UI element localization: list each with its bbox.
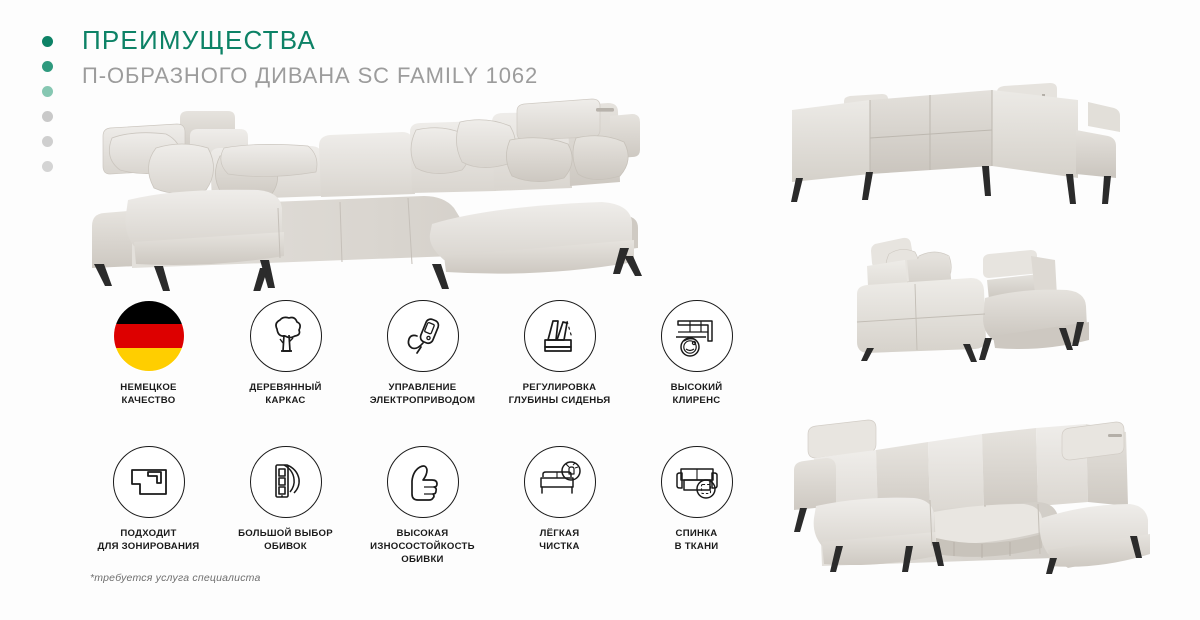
- german-flag-icon: [113, 300, 185, 372]
- features-grid: НЕМЕЦКОЕ КАЧЕСТВО ДЕРЕВЯННЫЙ КАРКАС: [80, 300, 770, 566]
- slide-root: ПРЕИМУЩЕСТВА П-ОБРАЗНОГО ДИВАНА SC FAMIL…: [0, 0, 1200, 620]
- remote-control-icon: [387, 300, 459, 372]
- feature-label: ЛЁГКАЯ ЧИСТКА: [539, 528, 579, 553]
- floor-plan-icon: [113, 446, 185, 518]
- feature-label: БОЛЬШОЙ ВЫБОР ОБИВОК: [238, 528, 333, 553]
- dot-6: [42, 161, 53, 172]
- footnote-text: *требуется услуга специалиста: [90, 572, 261, 584]
- feature-label: ДЕРЕВЯННЫЙ КАРКАС: [249, 382, 321, 407]
- page-heading: ПРЕИМУЩЕСТВА П-ОБРАЗНОГО ДИВАНА SC FAMIL…: [82, 26, 538, 89]
- feature-durability[interactable]: ВЫСОКАЯ ИЗНОСОСТОЙКОСТЬ ОБИВКИ: [354, 446, 491, 566]
- feature-high-clearance[interactable]: ВЫСОКИЙ КЛИРЕНС: [628, 300, 765, 407]
- dot-4: [42, 111, 53, 122]
- sofa-front-perspective-image: [72, 96, 662, 291]
- feature-zoning[interactable]: ПОДХОДИТ ДЛЯ ЗОНИРОВАНИЯ: [80, 446, 217, 566]
- page-title: ПРЕИМУЩЕСТВА: [82, 26, 538, 56]
- sofa-side-view-image: [845, 222, 1125, 362]
- progress-dots-rail: [42, 36, 58, 186]
- feature-label: СПИНКА В ТКАНИ: [675, 528, 719, 553]
- dot-3: [42, 86, 53, 97]
- sofa-spray-clean-icon: [524, 446, 596, 518]
- tree-icon: [250, 300, 322, 372]
- sofa-back-fabric-icon: [661, 446, 733, 518]
- feature-label: РЕГУЛИРОВКА ГЛУБИНЫ СИДЕНЬЯ: [509, 382, 611, 407]
- seat-depth-icon: [524, 300, 596, 372]
- dot-2: [42, 61, 53, 72]
- feature-label: НЕМЕЦКОЕ КАЧЕСТВО: [120, 382, 176, 407]
- feature-german-quality[interactable]: НЕМЕЦКОЕ КАЧЕСТВО: [80, 300, 217, 407]
- features-row-2: ПОДХОДИТ ДЛЯ ЗОНИРОВАНИЯ БОЛЬШОЙ ВЫБОР О…: [80, 446, 770, 566]
- fabric-swatch-fan-icon: [250, 446, 322, 518]
- feature-label: ВЫСОКИЙ КЛИРЕНС: [671, 382, 723, 407]
- page-subtitle: П-ОБРАЗНОГО ДИВАНА SC FAMILY 1062: [82, 63, 538, 89]
- sofa-bed-extended-image: [786, 406, 1166, 574]
- feature-fabric-back[interactable]: СПИНКА В ТКАНИ: [628, 446, 765, 566]
- dot-1: [42, 36, 53, 47]
- feature-upholstery-choice[interactable]: БОЛЬШОЙ ВЫБОР ОБИВОК: [217, 446, 354, 566]
- dot-5: [42, 136, 53, 147]
- robot-vacuum-clearance-icon: [661, 300, 733, 372]
- features-row-1: НЕМЕЦКОЕ КАЧЕСТВО ДЕРЕВЯННЫЙ КАРКАС: [80, 300, 770, 407]
- sofa-rear-view-image: [778, 74, 1126, 206]
- feature-seat-depth[interactable]: РЕГУЛИРОВКА ГЛУБИНЫ СИДЕНЬЯ: [491, 300, 628, 407]
- feature-label: УПРАВЛЕНИЕ ЭЛЕКТРОПРИВОДОМ: [370, 382, 476, 407]
- thumbs-up-icon: [387, 446, 459, 518]
- feature-electric-control[interactable]: УПРАВЛЕНИЕ ЭЛЕКТРОПРИВОДОМ: [354, 300, 491, 407]
- feature-easy-cleaning[interactable]: ЛЁГКАЯ ЧИСТКА: [491, 446, 628, 566]
- feature-label: ПОДХОДИТ ДЛЯ ЗОНИРОВАНИЯ: [98, 528, 200, 553]
- feature-wooden-frame[interactable]: ДЕРЕВЯННЫЙ КАРКАС: [217, 300, 354, 407]
- feature-label: ВЫСОКАЯ ИЗНОСОСТОЙКОСТЬ ОБИВКИ: [370, 528, 475, 566]
